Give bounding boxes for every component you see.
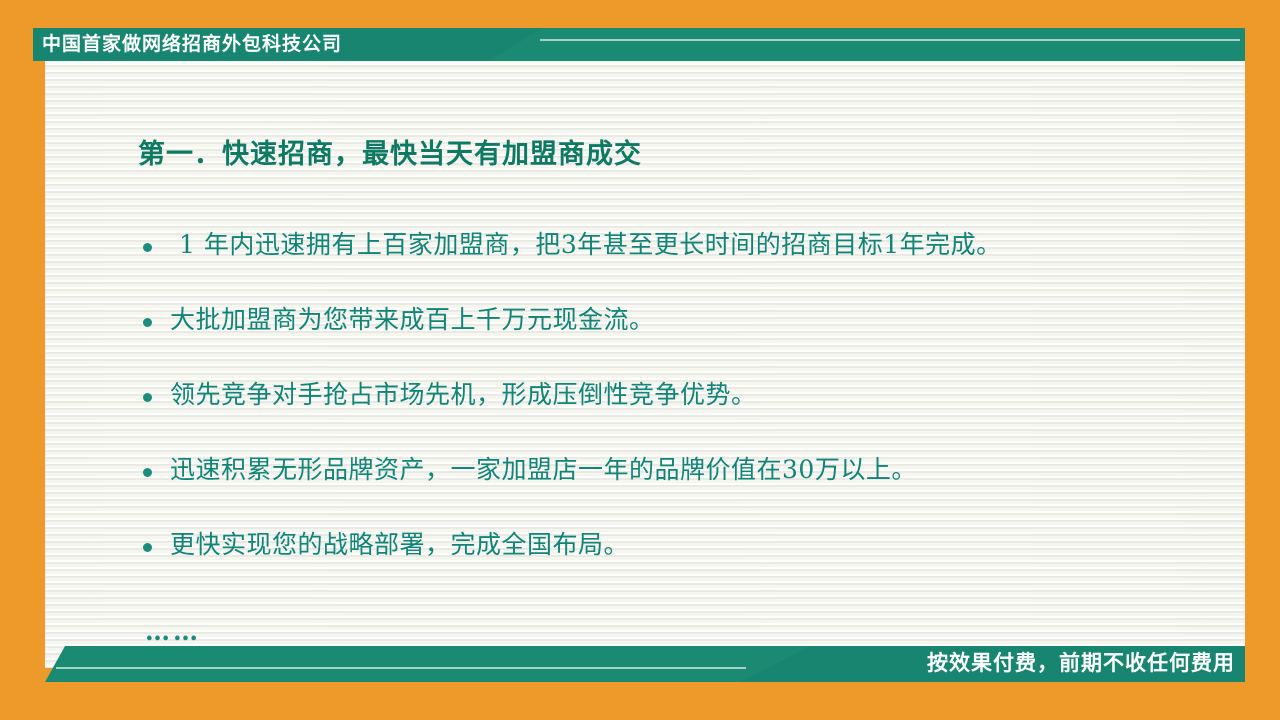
bullet-dot-icon — [143, 318, 152, 327]
list-item: 领先竞争对手抢占市场先机，形成压倒性竞争优势。 — [143, 378, 1203, 453]
ellipsis-continuation: …… — [145, 618, 201, 646]
list-item-label: 大批加盟商为您带来成百上千万元现金流。 — [170, 303, 1203, 337]
list-item: 迅速积累无形品牌资产，一家加盟店一年的品牌价值在30万以上。 — [143, 453, 1203, 528]
list-item: 大批加盟商为您带来成百上千万元现金流。 — [143, 303, 1203, 378]
bullet-dot-icon — [143, 243, 152, 252]
list-item-label: 迅速积累无形品牌资产，一家加盟店一年的品牌价值在30万以上。 — [170, 453, 1203, 487]
bullet-dot-icon — [143, 468, 152, 477]
company-title: 中国首家做网络招商外包科技公司 — [42, 28, 342, 61]
footer-hairline-divider — [56, 667, 746, 669]
bullet-dot-icon — [143, 393, 152, 402]
footer-tagline: 按效果付费，前期不收任何费用 — [927, 646, 1235, 682]
bullet-dot-icon — [143, 543, 152, 552]
page-title: 第一．快速招商，最快当天有加盟商成交 — [138, 132, 642, 171]
list-item-label: 更快实现您的战略部署，完成全国布局。 — [170, 528, 1203, 562]
list-item-label: 1 年内迅速拥有上百家加盟商，把3年甚至更长时间的招商目标1年完成。 — [170, 228, 1203, 262]
bullet-list: 1 年内迅速拥有上百家加盟商，把3年甚至更长时间的招商目标1年完成。 大批加盟商… — [143, 228, 1203, 603]
list-item-label: 领先竞争对手抢占市场先机，形成压倒性竞争优势。 — [170, 378, 1203, 412]
presentation-slide: 中国首家做网络招商外包科技公司 第一．快速招商，最快当天有加盟商成交 1 年内迅… — [0, 0, 1280, 720]
header-hairline-divider — [540, 39, 1240, 41]
list-item: 更快实现您的战略部署，完成全国布局。 — [143, 528, 1203, 603]
list-item: 1 年内迅速拥有上百家加盟商，把3年甚至更长时间的招商目标1年完成。 — [143, 228, 1203, 303]
